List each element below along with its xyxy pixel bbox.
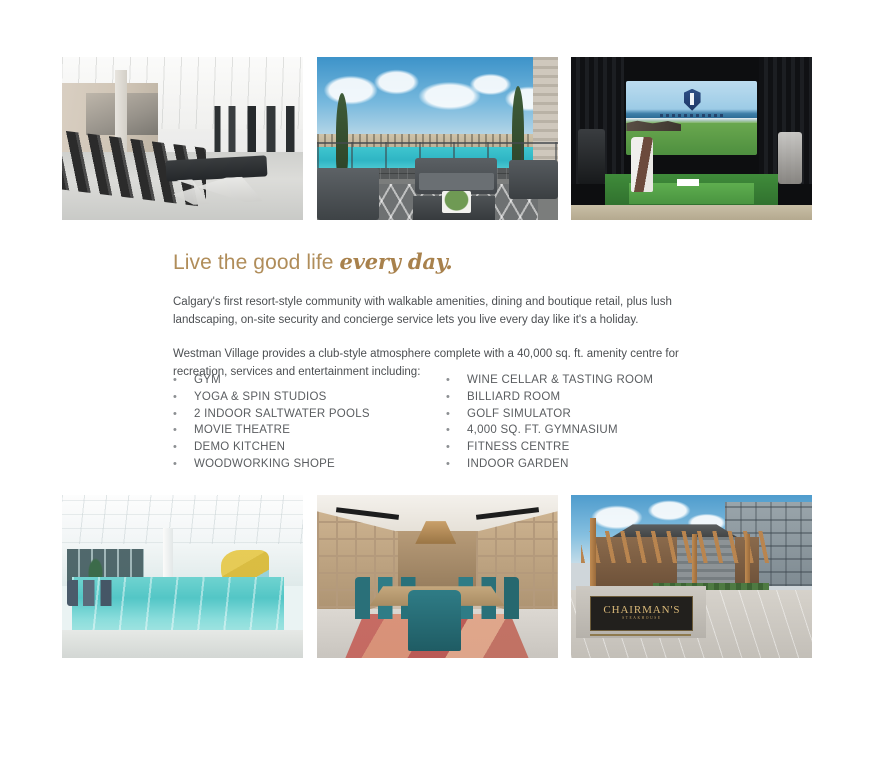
golf-bag xyxy=(631,137,653,192)
pool-scene xyxy=(62,495,303,658)
wine-cellar-photo xyxy=(317,495,558,658)
indoor-pool-photo xyxy=(62,495,303,658)
steakhouse-sign-subtitle: STEAKHOUSE xyxy=(622,616,662,622)
bullet-icon: • xyxy=(173,456,194,472)
list-item: • WOODWORKING SHOPE xyxy=(173,456,446,473)
list-item-label: INDOOR GARDEN xyxy=(467,456,719,473)
list-item-label: 2 INDOOR SALTWATER POOLS xyxy=(194,406,446,423)
list-item-label: WINE CELLAR & TASTING ROOM xyxy=(467,372,719,389)
list-item: • 2 INDOOR SALTWATER POOLS xyxy=(173,406,446,423)
patio-chair-left xyxy=(317,168,380,220)
timber-post xyxy=(590,518,595,596)
cellar-scene xyxy=(317,495,558,658)
golf-simulator-photo xyxy=(571,57,812,220)
rooftop-patio-photo xyxy=(317,57,558,220)
pool-loungers xyxy=(67,580,130,606)
steakhouse-scene: CHAIRMAN'S STEAKHOUSE xyxy=(571,495,812,658)
headline-accent: every day. xyxy=(340,249,453,274)
list-item: • GOLF SIMULATOR xyxy=(446,406,719,423)
list-item: • INDOOR GARDEN xyxy=(446,456,719,473)
list-item: • 4,000 SQ. FT. GYMNASIUM xyxy=(446,422,719,439)
cellar-foreground-chair xyxy=(408,590,461,652)
intro-paragraph: Calgary's first resort-style community w… xyxy=(173,294,713,330)
golf-scene xyxy=(571,57,812,220)
list-item-label: BILLIARD ROOM xyxy=(467,389,719,406)
page-title: Live the good life every day. xyxy=(173,250,733,274)
list-item-label: 4,000 SQ. FT. GYMNASIUM xyxy=(467,422,719,439)
bullet-icon: • xyxy=(446,439,467,455)
golf-surf-line xyxy=(626,118,756,122)
list-item-label: FITNESS CENTRE xyxy=(467,439,719,456)
golf-balls xyxy=(677,179,699,186)
list-item: • YOGA & SPIN STUDIOS xyxy=(173,389,446,406)
bullet-icon: • xyxy=(446,422,467,438)
golf-clubs-right xyxy=(778,132,802,184)
bullet-icon: • xyxy=(173,406,194,422)
list-item-label: DEMO KITCHEN xyxy=(194,439,446,456)
steakhouse-sign-name: CHAIRMAN'S xyxy=(603,605,680,616)
golf-screen-logo-text xyxy=(660,114,722,118)
sign-accent-line xyxy=(590,634,691,636)
list-item-label: YOGA & SPIN STUDIOS xyxy=(194,389,446,406)
patio-sofa xyxy=(415,158,497,194)
steakhouse-exterior-photo: CHAIRMAN'S STEAKHOUSE xyxy=(571,495,812,658)
list-item: • BILLIARD ROOM xyxy=(446,389,719,406)
list-item: • MOVIE THEATRE xyxy=(173,422,446,439)
gym-scene xyxy=(62,57,303,220)
bullet-icon: • xyxy=(173,439,194,455)
amenities-left-column: • GYM • YOGA & SPIN STUDIOS • 2 INDOOR S… xyxy=(173,372,446,473)
list-item: • FITNESS CENTRE xyxy=(446,439,719,456)
list-item: • GYM xyxy=(173,372,446,389)
golf-clubs-left xyxy=(578,129,605,184)
golf-floor xyxy=(571,205,812,220)
steakhouse-sign: CHAIRMAN'S STEAKHOUSE xyxy=(590,596,693,631)
list-item: • WINE CELLAR & TASTING ROOM xyxy=(446,372,719,389)
patio-scene xyxy=(317,57,558,220)
shield-logo-icon xyxy=(684,89,701,111)
bottom-photo-row: CHAIRMAN'S STEAKHOUSE xyxy=(62,495,812,658)
bullet-icon: • xyxy=(446,456,467,472)
pool-deck xyxy=(62,630,303,658)
content-block: Live the good life every day. Calgary's … xyxy=(173,250,733,381)
top-photo-row xyxy=(62,57,812,220)
list-item-label: WOODWORKING SHOPE xyxy=(194,456,446,473)
amenities-right-column: • WINE CELLAR & TASTING ROOM • BILLIARD … xyxy=(446,372,719,473)
bullet-icon: • xyxy=(173,389,194,405)
patio-chair-right xyxy=(509,160,557,199)
headline-lead: Live the good life xyxy=(173,251,340,274)
bullet-icon: • xyxy=(173,372,194,388)
list-item-label: GYM xyxy=(194,372,446,389)
gym-photo xyxy=(62,57,303,220)
bullet-icon: • xyxy=(446,372,467,388)
bullet-icon: • xyxy=(446,406,467,422)
potted-plant xyxy=(442,191,471,214)
amenities-list: • GYM • YOGA & SPIN STUDIOS • 2 INDOOR S… xyxy=(173,372,733,473)
list-item-label: GOLF SIMULATOR xyxy=(467,406,719,423)
bullet-icon: • xyxy=(446,389,467,405)
list-item-label: MOVIE THEATRE xyxy=(194,422,446,439)
list-item: • DEMO KITCHEN xyxy=(173,439,446,456)
bullet-icon: • xyxy=(173,422,194,438)
brochure-page: Live the good life every day. Calgary's … xyxy=(0,0,874,768)
